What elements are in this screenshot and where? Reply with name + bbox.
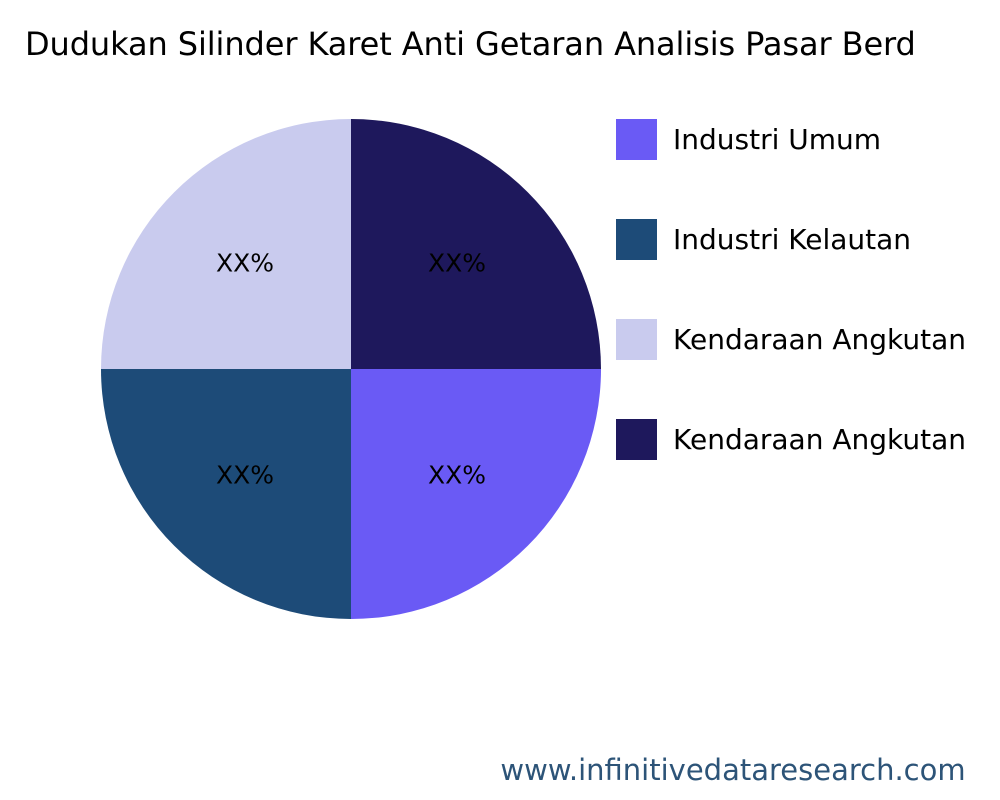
pie-slice-2[interactable]	[101, 369, 351, 619]
pie-slice-3[interactable]	[101, 119, 351, 369]
chart-title: Dudukan Silinder Karet Anti Getaran Anal…	[25, 22, 1000, 66]
legend-item-kendaraan-angkutan-2[interactable]: Kendaraan Angkutan	[616, 419, 1000, 519]
legend-item-kendaraan-angkutan-1[interactable]: Kendaraan Angkutan	[616, 319, 1000, 419]
legend-swatch-icon-3	[616, 419, 657, 460]
legend-item-industri-umum[interactable]: Industri Umum	[616, 119, 1000, 219]
legend-item-industri-kelautan[interactable]: Industri Kelautan	[616, 219, 1000, 319]
legend-swatch-icon-1	[616, 219, 657, 260]
chart-canvas: Dudukan Silinder Karet Anti Getaran Anal…	[0, 0, 1000, 800]
legend-label-3: Kendaraan Angkutan	[673, 419, 966, 460]
pie-chart: XX% XX% XX% XX%	[100, 118, 602, 620]
footer-watermark-url: www.infinitivedataresearch.com	[0, 752, 1000, 788]
legend-label-1: Industri Kelautan	[673, 219, 911, 260]
legend-swatch-icon-2	[616, 319, 657, 360]
pie-slice-1[interactable]	[351, 369, 601, 619]
legend-label-0: Industri Umum	[673, 119, 881, 160]
pie-svg	[100, 118, 602, 620]
legend-label-2: Kendaraan Angkutan	[673, 319, 966, 360]
legend-swatch-icon-0	[616, 119, 657, 160]
pie-slice-0[interactable]	[351, 119, 601, 369]
chart-legend: Industri Umum Industri Kelautan Kendaraa…	[616, 119, 1000, 519]
